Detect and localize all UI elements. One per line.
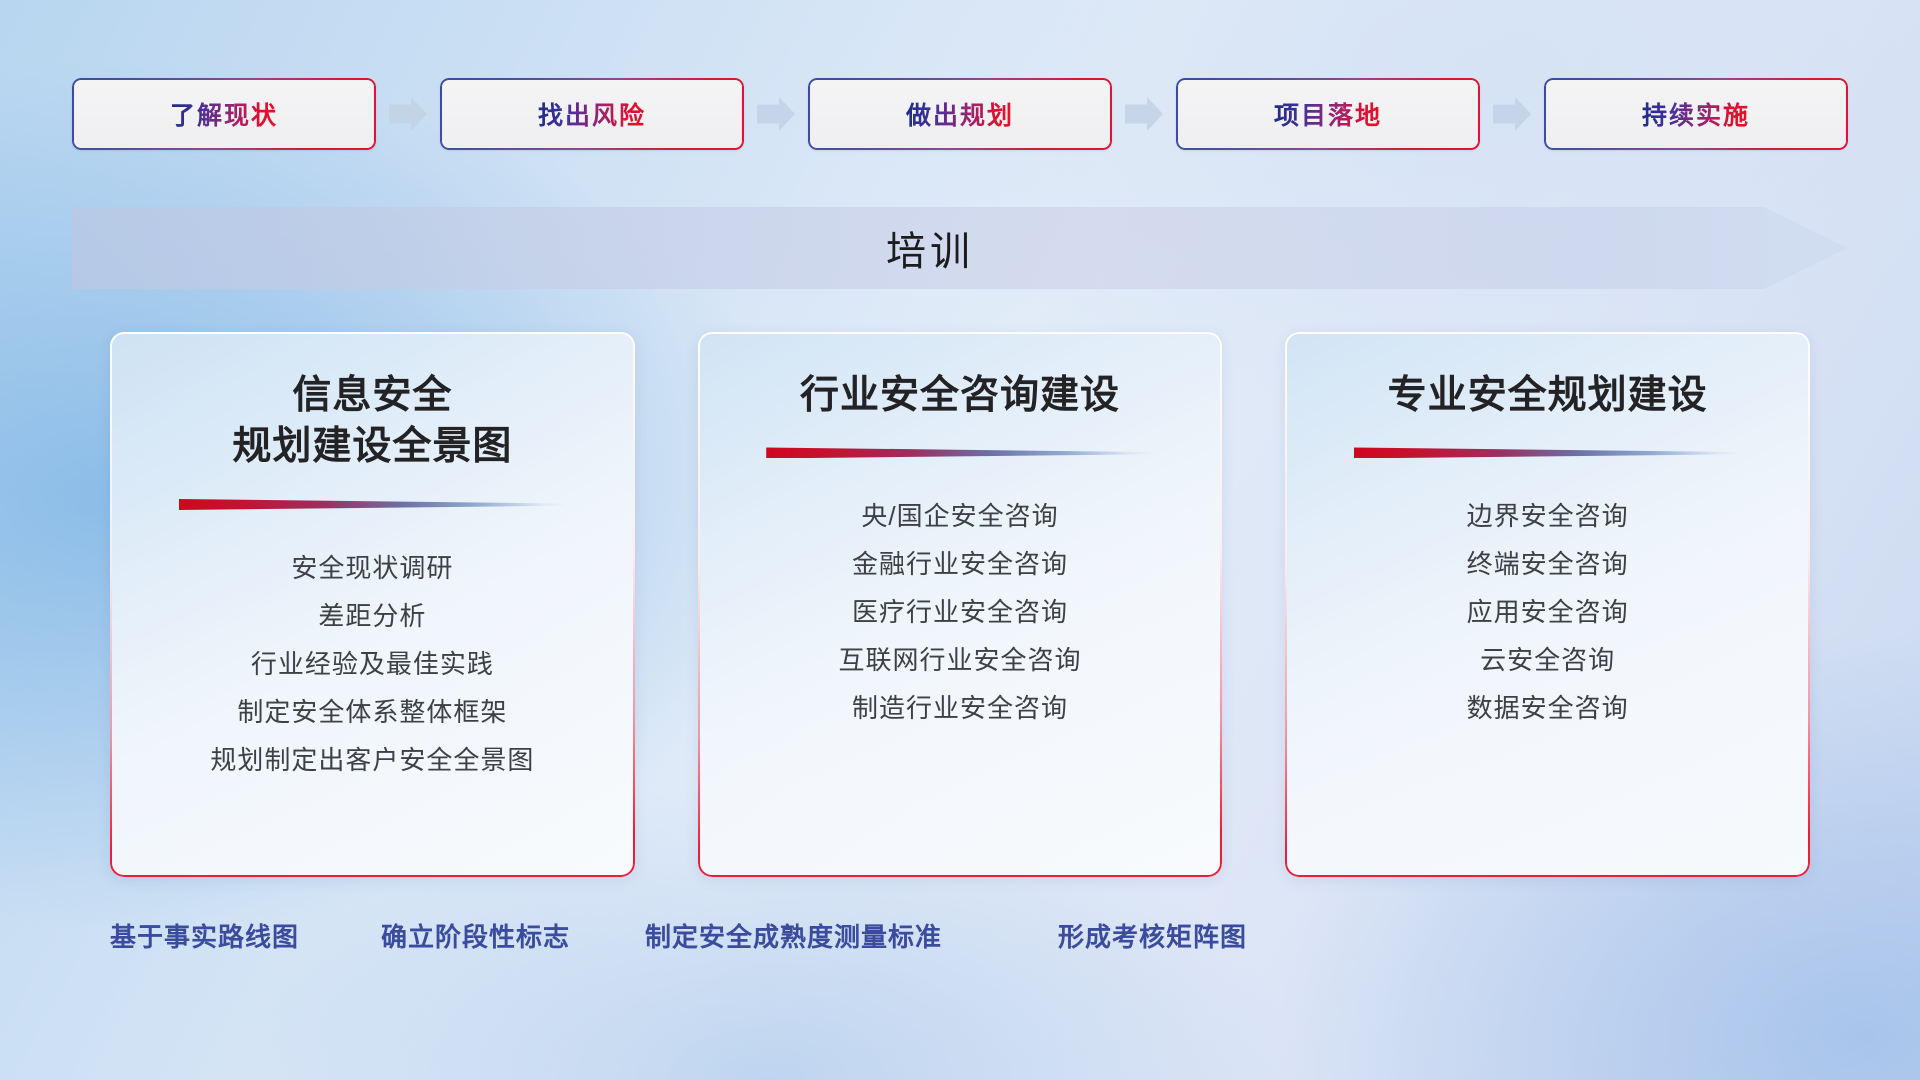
card-panorama[interactable]: 信息安全 规划建设全景图 安全现状调研 差距分析 行业经验及最佳实践 制定安全体… [110, 332, 635, 877]
list-item: 安全现状调研 [210, 544, 534, 592]
list-item: 数据安全咨询 [1467, 684, 1629, 732]
footnote-matrix: 形成考核矩阵图 [1058, 917, 1247, 954]
card-title-line-1: 行业安全咨询建设 [800, 370, 1120, 421]
card-title-line-2: 规划建设全景图 [232, 421, 512, 472]
list-item: 边界安全咨询 [1467, 492, 1629, 540]
footnote-row: 基于事实路线图 确立阶段性标志 制定安全成熟度测量标准 形成考核矩阵图 [0, 917, 1920, 965]
step-box-1[interactable]: 了解现状 [72, 78, 376, 150]
card-title: 行业安全咨询建设 [800, 370, 1120, 421]
right-arrow-icon [389, 97, 427, 131]
card-industry-consulting[interactable]: 行业安全咨询建设 央/国企安全咨询 金融行业安全咨询 医疗行业安全咨询 互联网行… [698, 332, 1223, 877]
footnote-roadmap: 基于事实路线图 [110, 917, 299, 954]
card-row: 信息安全 规划建设全景图 安全现状调研 差距分析 行业经验及最佳实践 制定安全体… [110, 332, 1810, 877]
right-arrow-icon [757, 97, 795, 131]
right-arrow-icon [1125, 97, 1163, 131]
list-item: 云安全咨询 [1467, 636, 1629, 684]
card-title-line-1: 专业安全规划建设 [1388, 370, 1708, 421]
step-label-3: 做出规划 [906, 96, 1014, 132]
training-banner: 培训 [72, 207, 1848, 289]
step-label-4: 项目落地 [1274, 96, 1382, 132]
list-item: 应用安全咨询 [1467, 588, 1629, 636]
card-title: 信息安全 规划建设全景图 [232, 370, 512, 473]
step-box-2[interactable]: 找出风险 [440, 78, 744, 150]
step-box-4[interactable]: 项目落地 [1176, 78, 1480, 150]
card-item-list: 边界安全咨询 终端安全咨询 应用安全咨询 云安全咨询 数据安全咨询 [1467, 492, 1629, 732]
list-item: 行业经验及最佳实践 [210, 640, 534, 688]
card-accent-rule [179, 499, 567, 510]
step-arrow-4 [1480, 96, 1544, 132]
card-title: 专业安全规划建设 [1388, 370, 1708, 421]
process-step-row: 了解现状 找出风险 做出规划 项目落地 持续实施 [72, 78, 1848, 150]
list-item: 差距分析 [210, 592, 534, 640]
footnote-milestone: 确立阶段性标志 [381, 917, 570, 954]
slide-canvas: 了解现状 找出风险 做出规划 项目落地 持续实施 培训 信息安全 规划建设全景图 [0, 0, 1920, 1080]
list-item: 央/国企安全咨询 [839, 492, 1082, 540]
step-arrow-3 [1112, 96, 1176, 132]
step-label-1: 了解现状 [170, 96, 278, 132]
list-item: 金融行业安全咨询 [839, 540, 1082, 588]
step-label-5: 持续实施 [1642, 96, 1750, 132]
right-arrow-icon [1493, 97, 1531, 131]
card-item-list: 安全现状调研 差距分析 行业经验及最佳实践 制定安全体系整体框架 规划制定出客户… [210, 544, 534, 784]
list-item: 医疗行业安全咨询 [839, 588, 1082, 636]
list-item: 互联网行业安全咨询 [839, 636, 1082, 684]
step-label-2: 找出风险 [538, 96, 646, 132]
list-item: 规划制定出客户安全全景图 [210, 736, 534, 784]
list-item: 制定安全体系整体框架 [210, 688, 534, 736]
card-accent-rule [1354, 447, 1742, 458]
card-item-list: 央/国企安全咨询 金融行业安全咨询 医疗行业安全咨询 互联网行业安全咨询 制造行… [839, 492, 1082, 732]
step-box-3[interactable]: 做出规划 [808, 78, 1112, 150]
card-accent-rule [766, 447, 1154, 458]
card-title-line-1: 信息安全 [232, 370, 512, 421]
card-professional-planning[interactable]: 专业安全规划建设 边界安全咨询 终端安全咨询 应用安全咨询 云安全咨询 数据安全… [1285, 332, 1810, 877]
step-arrow-2 [744, 96, 808, 132]
list-item: 制造行业安全咨询 [839, 684, 1082, 732]
step-box-5[interactable]: 持续实施 [1544, 78, 1848, 150]
banner-title: 培训 [886, 219, 974, 277]
footnote-maturity: 制定安全成熟度测量标准 [645, 917, 942, 954]
step-arrow-1 [376, 96, 440, 132]
list-item: 终端安全咨询 [1467, 540, 1629, 588]
